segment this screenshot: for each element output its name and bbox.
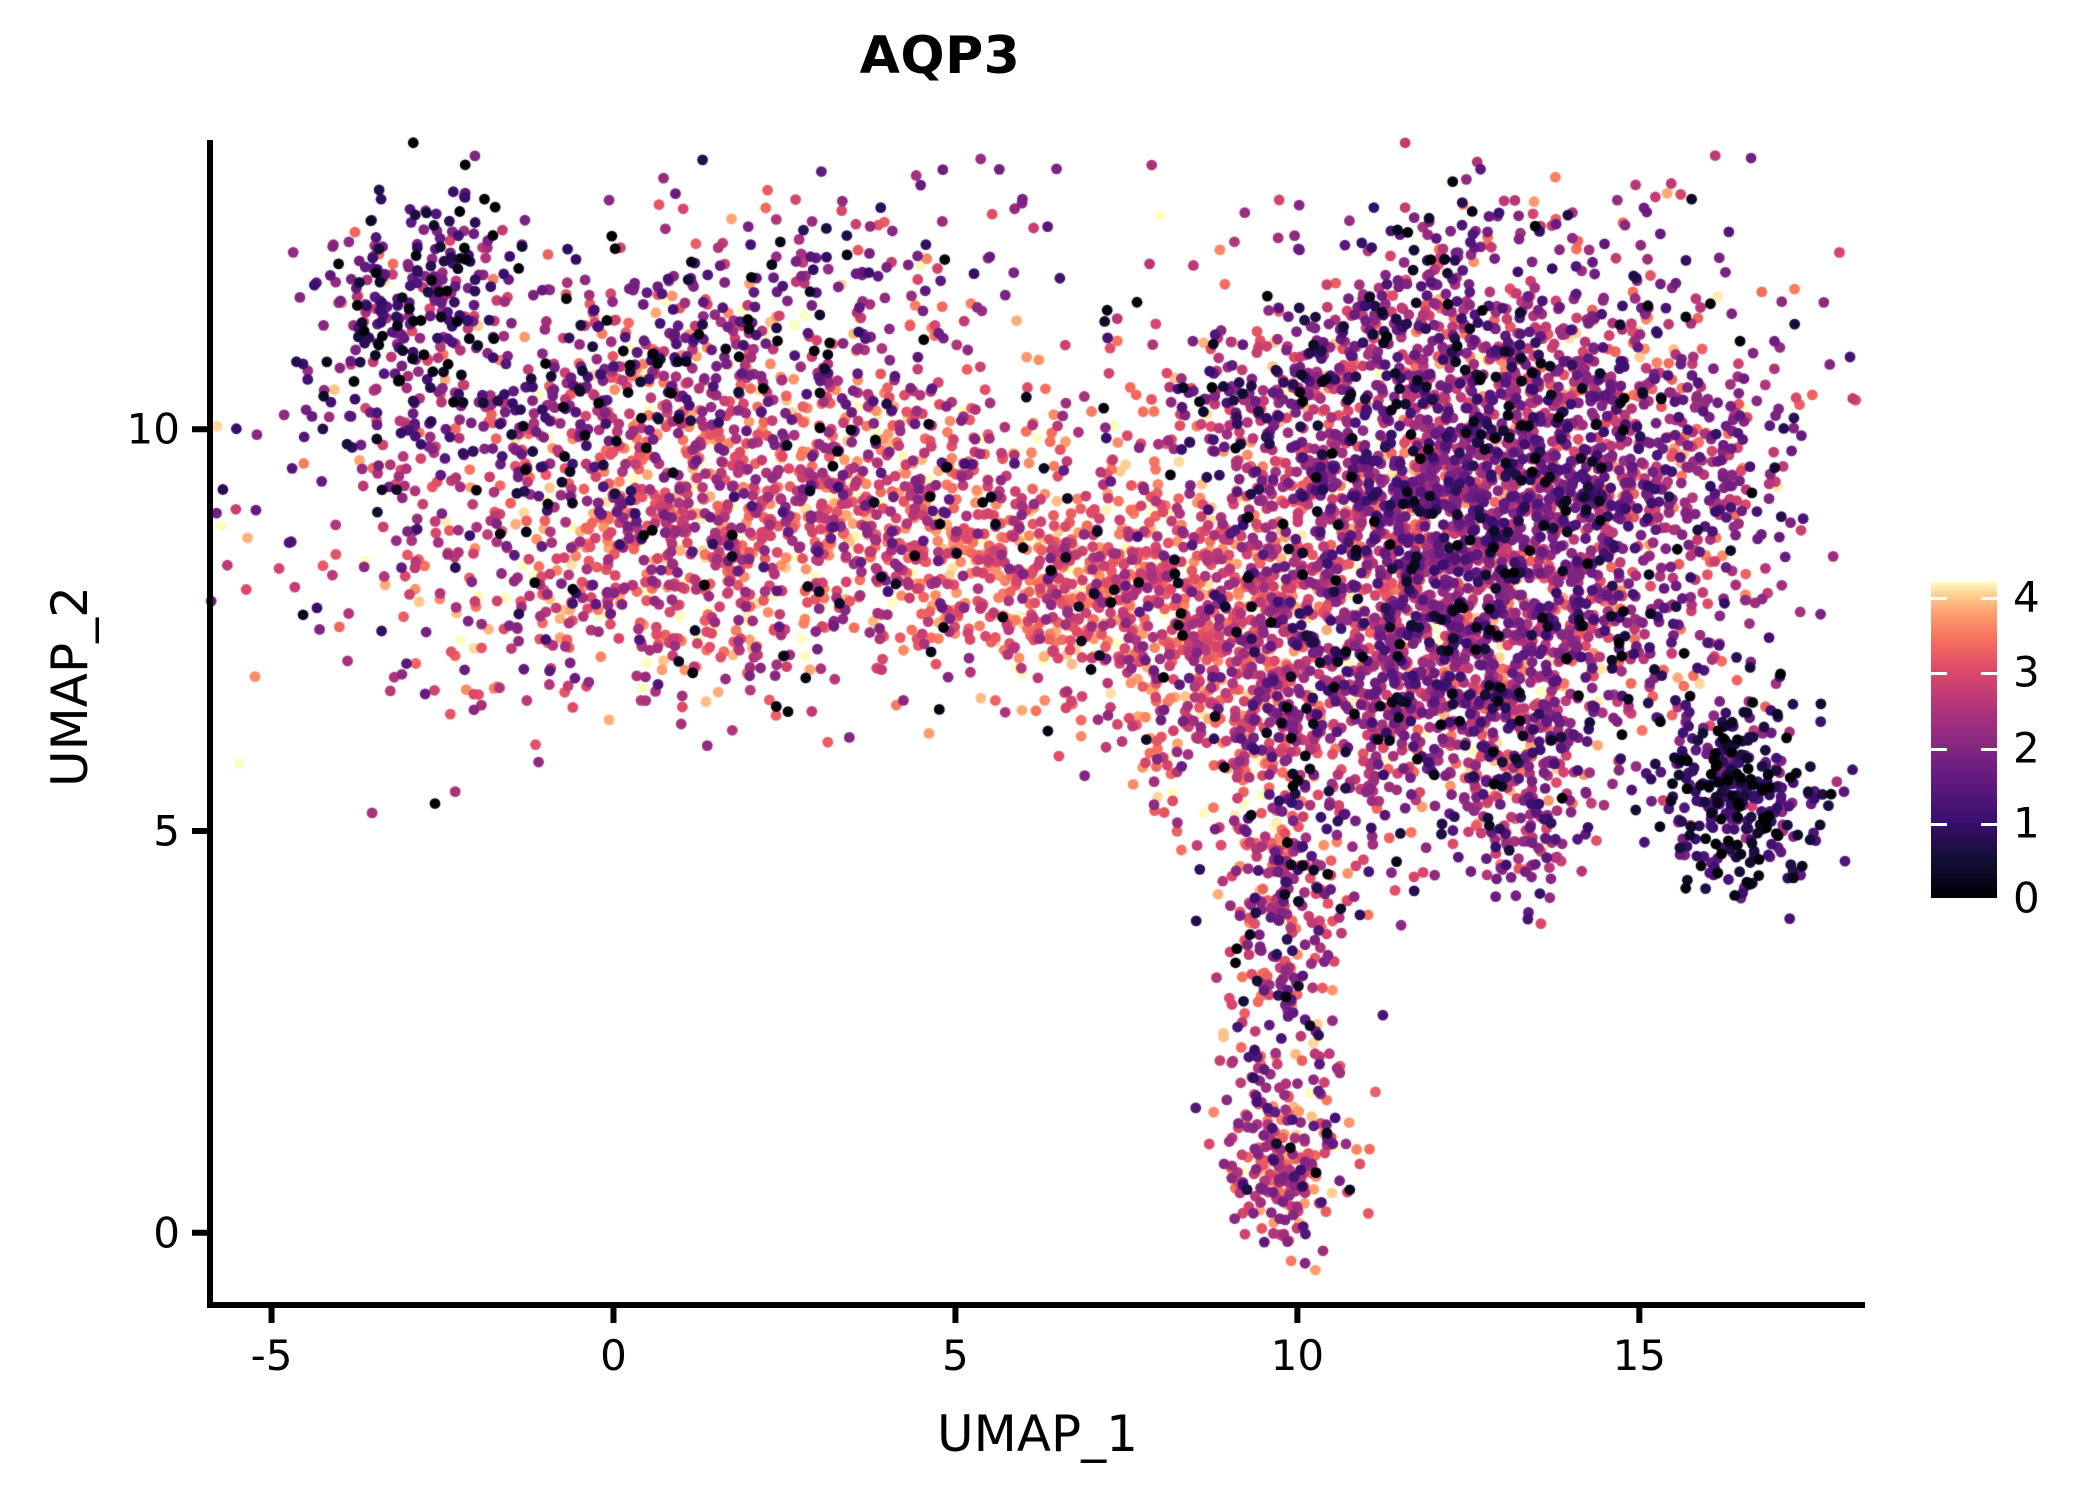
y-axis-label: UMAP_2 [41,667,99,787]
colorbar-tick-label: 4 [2013,573,2040,622]
colorbar-tick-mark [1931,898,1947,901]
colorbar-tick-mark [1931,823,1947,826]
y-tick-label: 10 [80,405,180,454]
x-tick-label: -5 [251,1331,293,1380]
colorbar-tick-mark [1931,748,1947,751]
x-axis-label: UMAP_1 [937,1405,1138,1463]
colorbar-tick-label: 0 [2013,874,2040,923]
colorbar-tick-label: 3 [2013,648,2040,697]
colorbar-tick-mark [1981,748,1997,751]
colorbar-tick-label: 1 [2013,798,2040,847]
y-tick-label: 5 [80,806,180,855]
colorbar-tick-mark [1981,898,1997,901]
scatter-plot-canvas [0,0,2100,1500]
x-tick-label: 15 [1613,1331,1666,1380]
figure-root: AQP3 -5051015 0510 UMAP_1 UMAP_2 01234 [0,0,2100,1500]
y-tick-label: 0 [80,1208,180,1257]
colorbar-tick-mark [1931,672,1947,675]
colorbar-tick-label: 2 [2013,723,2040,772]
x-tick-label: 10 [1271,1331,1324,1380]
colorbar-tick-mark [1981,823,1997,826]
x-tick-label: 0 [600,1331,627,1380]
colorbar-tick-mark [1981,672,1997,675]
colorbar-gradient [1931,582,1997,898]
x-tick-label: 5 [942,1331,969,1380]
colorbar-tick-mark [1981,597,1997,600]
colorbar-tick-mark [1931,597,1947,600]
